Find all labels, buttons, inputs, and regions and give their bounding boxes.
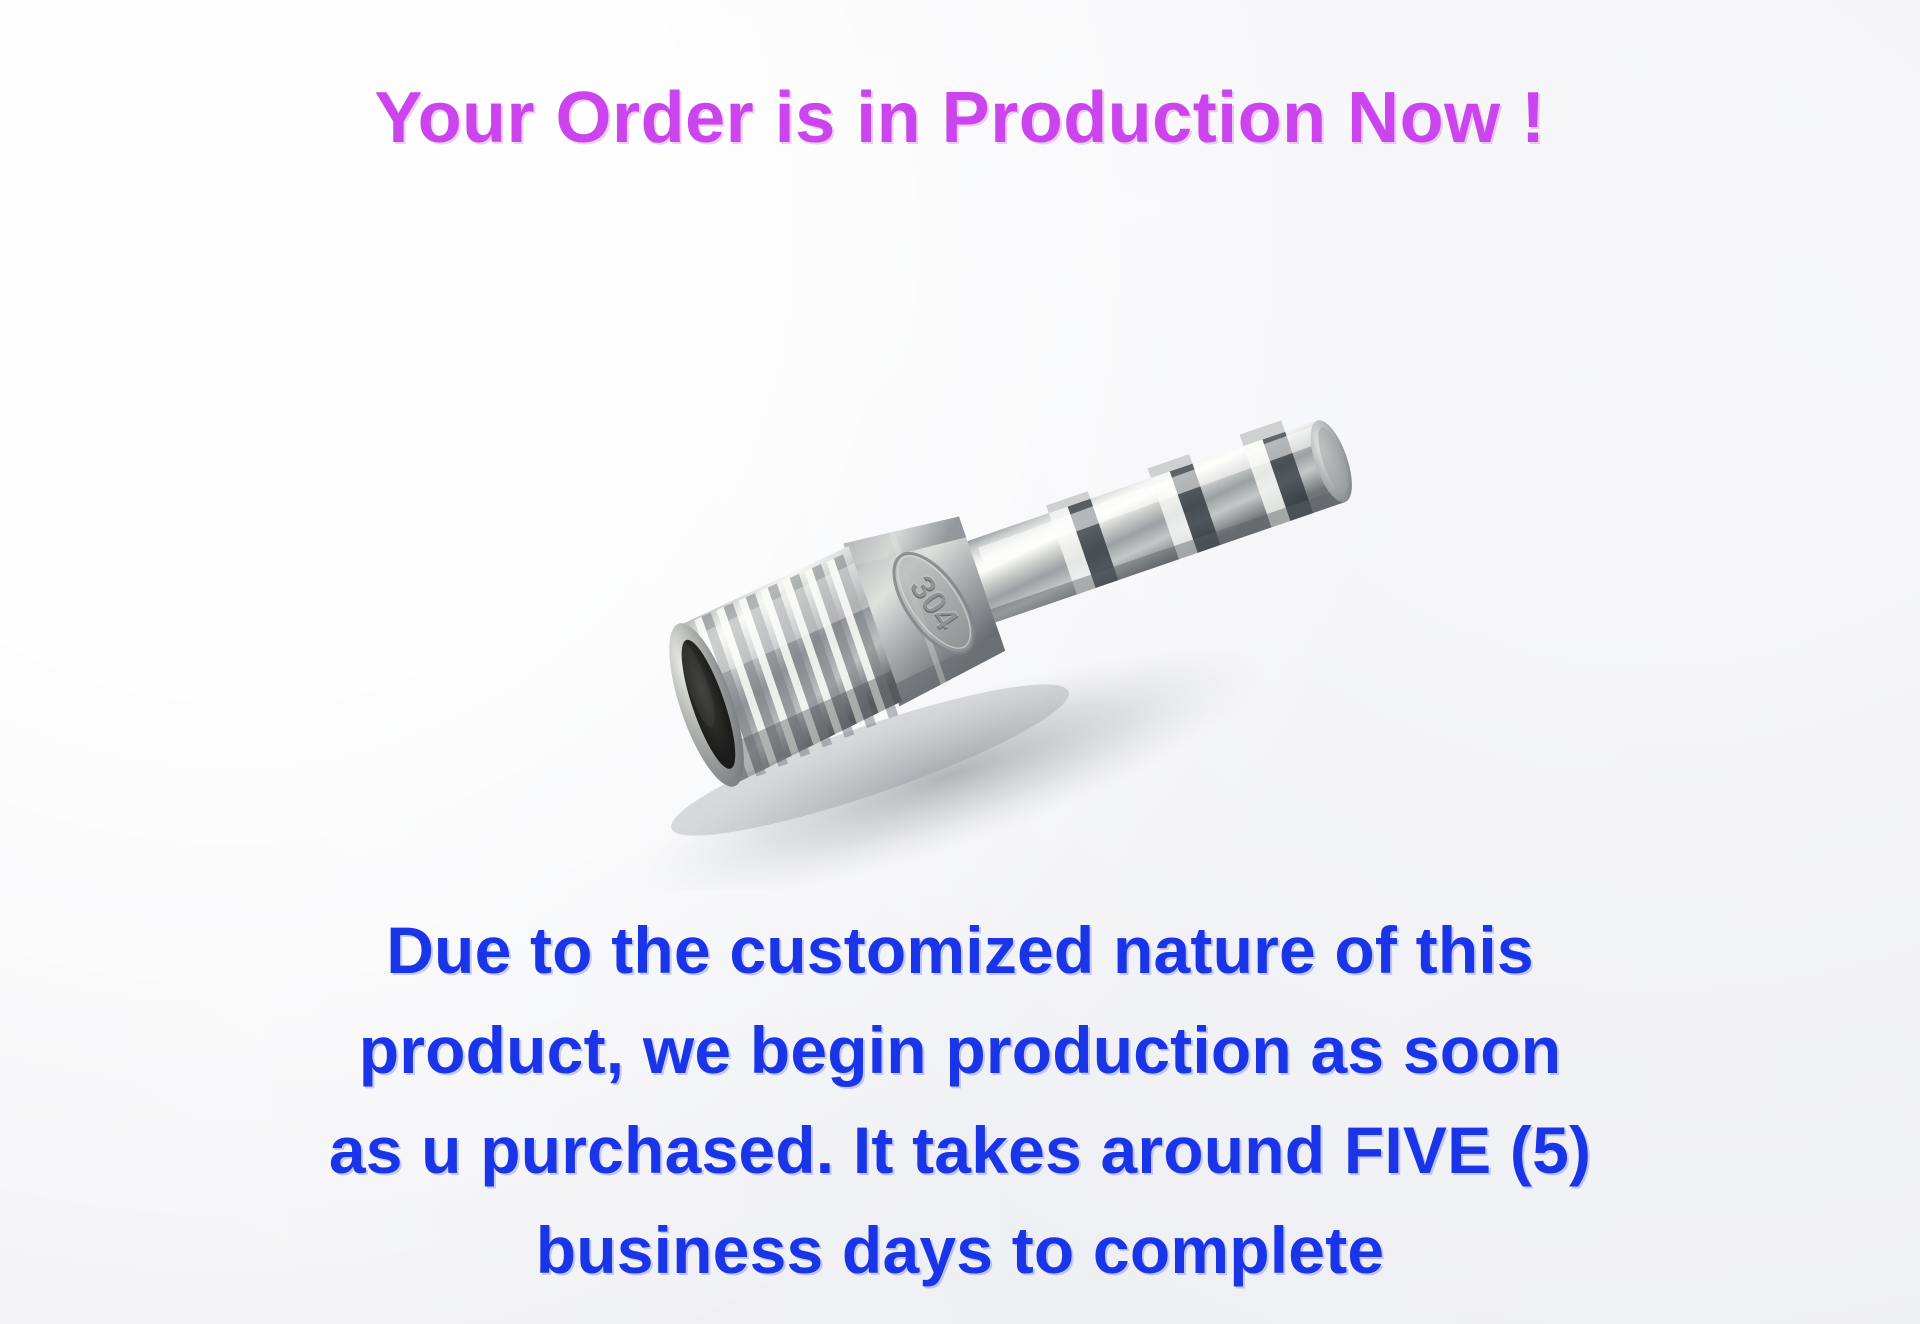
notice-line-1: Due to the customized nature of this: [60, 900, 1860, 1000]
notice-line-3: as u purchased. It takes around FIVE (5): [60, 1100, 1860, 1200]
production-notice: Due to the customized nature of this pro…: [60, 900, 1860, 1300]
notice-line-2: product, we begin production as soon: [60, 1000, 1860, 1100]
promo-banner: Your Order is in Production Now !: [0, 0, 1920, 1324]
product-image: 304 304: [520, 330, 1420, 890]
page-title: Your Order is in Production Now !: [0, 82, 1920, 154]
hose-barb-fitting-illustration: 304 304: [520, 330, 1420, 890]
notice-line-4: business days to complete: [60, 1200, 1860, 1300]
barb-section: [964, 404, 1361, 622]
